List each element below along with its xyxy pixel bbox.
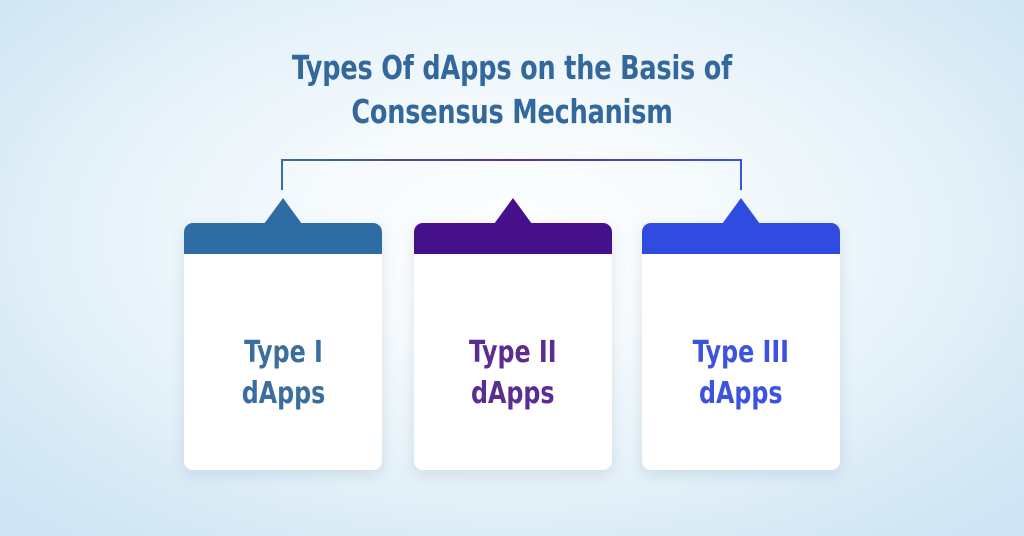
card-label-2: Type II dApps <box>469 332 557 414</box>
title-line-1: Types Of dApps on the Basis of <box>72 46 953 90</box>
card-pointer-icon-1 <box>264 198 302 224</box>
bracket-rail <box>282 160 741 190</box>
card-header-2 <box>414 223 612 254</box>
card-header-1 <box>184 223 382 254</box>
card-pointer-icon-3 <box>722 198 760 224</box>
card-header-3 <box>642 223 840 254</box>
card-body-1: Type I dApps <box>184 254 382 470</box>
title-line-2: Consensus Mechanism <box>72 90 953 134</box>
card-label-3: Type III dApps <box>693 332 789 414</box>
card-label-1: Type I dApps <box>241 332 325 414</box>
page-title: Types Of dApps on the Basis of Consensus… <box>0 46 1024 134</box>
card-body-2: Type II dApps <box>414 254 612 470</box>
card-type-2[interactable]: Type II dApps <box>414 223 612 470</box>
cards-row: Type I dApps Type II dApps Type III dApp… <box>184 198 840 470</box>
card-type-1[interactable]: Type I dApps <box>184 223 382 470</box>
card-type-3[interactable]: Type III dApps <box>642 223 840 470</box>
card-body-3: Type III dApps <box>642 254 840 470</box>
card-pointer-icon-2 <box>494 198 532 224</box>
infographic-canvas: Types Of dApps on the Basis of Consensus… <box>0 0 1024 536</box>
